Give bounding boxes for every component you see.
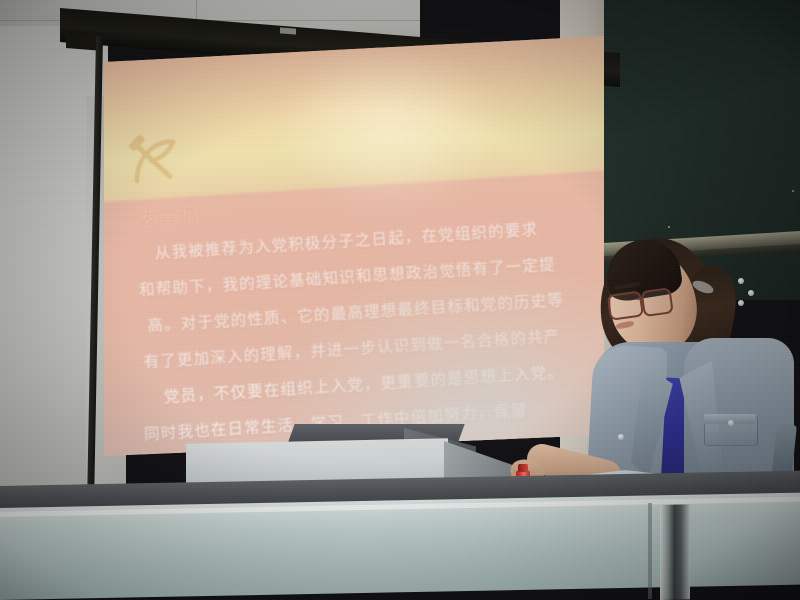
bottle-cap — [518, 464, 528, 472]
classroom-photo: 发言稿 从我被推荐为入党积极分子之日起，在党组织的要求 和帮助下，我的理论基础知… — [0, 0, 800, 600]
projector-glare — [274, 44, 504, 212]
slide-title: 发言稿 — [140, 201, 198, 230]
chalk-speck — [668, 226, 670, 228]
jacket-stud — [728, 420, 734, 426]
shoulder-stud — [738, 278, 744, 284]
desk-divider-post — [660, 504, 690, 600]
shoulder-stud — [738, 300, 744, 306]
chalk-speck — [792, 190, 794, 192]
roller-label — [280, 27, 296, 34]
shoulder-stud — [748, 290, 754, 296]
glasses-lens-left — [607, 290, 644, 320]
desk-panel-seam — [648, 503, 652, 599]
glasses-lens-right — [640, 287, 673, 317]
jacket-stud — [618, 434, 624, 440]
presenter — [588, 238, 800, 503]
projection-screen: 发言稿 从我被推荐为入党积极分子之日起，在党组织的要求 和帮助下，我的理论基础知… — [104, 36, 604, 456]
